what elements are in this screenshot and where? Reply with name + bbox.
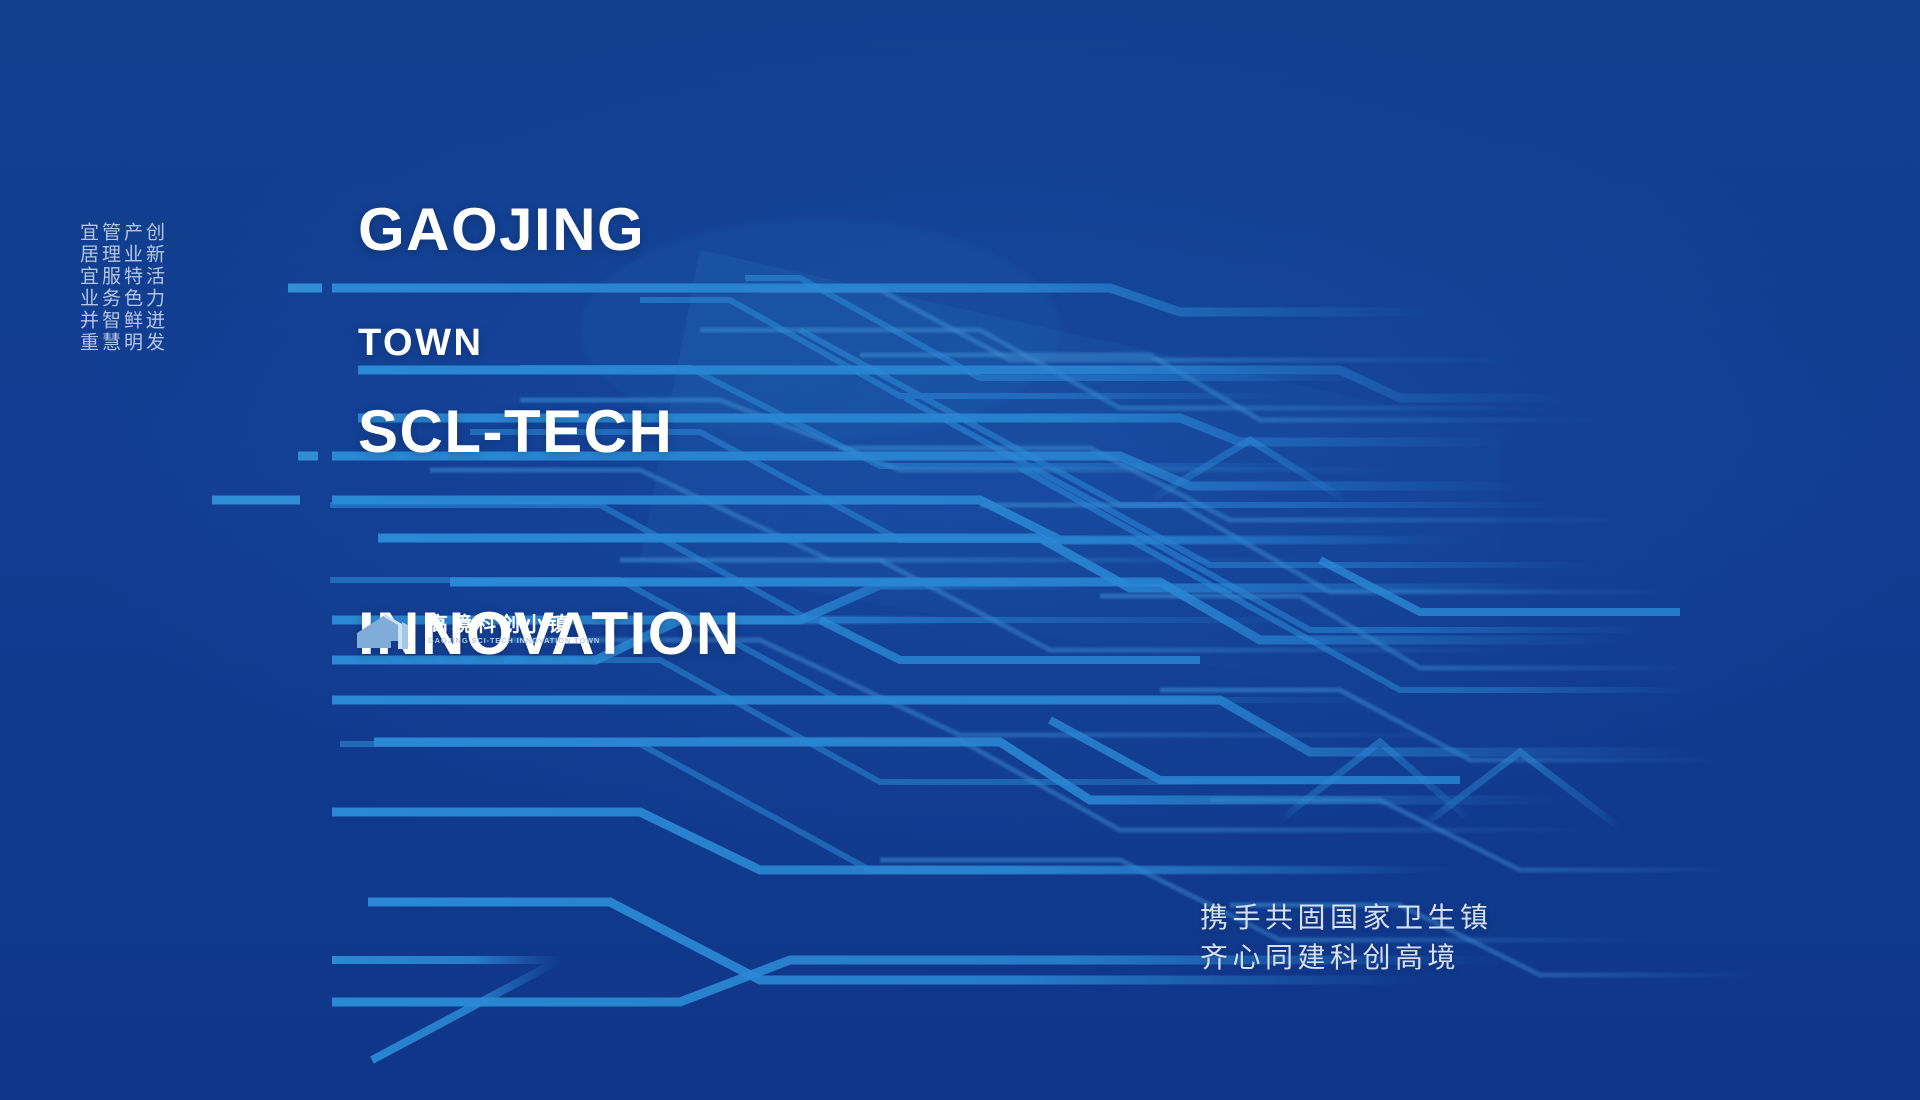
headline-line-2: SCL-TECH [358, 398, 741, 465]
vertical-slogan-column-4: 宜居宜业并重 [78, 222, 97, 354]
logo-lockup: 高境科创小镇 GAOJING SCI-TECH INNOVATION TOWN [355, 608, 600, 652]
bottom-slogan: 携手共固国家卫生镇 齐心同建科创高境 [1200, 898, 1493, 978]
bottom-slogan-line-2: 齐心同建科创高境 [1200, 938, 1493, 978]
headline-line-4: TOWN [358, 322, 483, 365]
headline-line-1: GAOJING [358, 196, 741, 263]
vertical-slogan-column-3: 管理服务智慧 [100, 222, 119, 354]
vertical-slogan: 创新活力迸发 产业特色鲜明 管理服务智慧 宜居宜业并重 [78, 222, 163, 354]
poster-canvas: 创新活力迸发 产业特色鲜明 管理服务智慧 宜居宜业并重 GAOJING SCL-… [0, 0, 1920, 1100]
logo-title-en: GAOJING SCI-TECH INNOVATION TOWN [428, 637, 600, 645]
page-title: GAOJING SCL-TECH INNOVATION [358, 62, 741, 801]
vertical-slogan-column-2: 产业特色鲜明 [122, 222, 141, 354]
vertical-slogan-column-1: 创新活力迸发 [144, 222, 163, 354]
logo-title-cn: 高境科创小镇 [428, 615, 600, 635]
circuit-line-artwork [0, 0, 1920, 1100]
bottom-slogan-line-1: 携手共固国家卫生镇 [1200, 898, 1493, 938]
house-building-icon [355, 608, 417, 652]
logo-text-block: 高境科创小镇 GAOJING SCI-TECH INNOVATION TOWN [428, 615, 600, 645]
